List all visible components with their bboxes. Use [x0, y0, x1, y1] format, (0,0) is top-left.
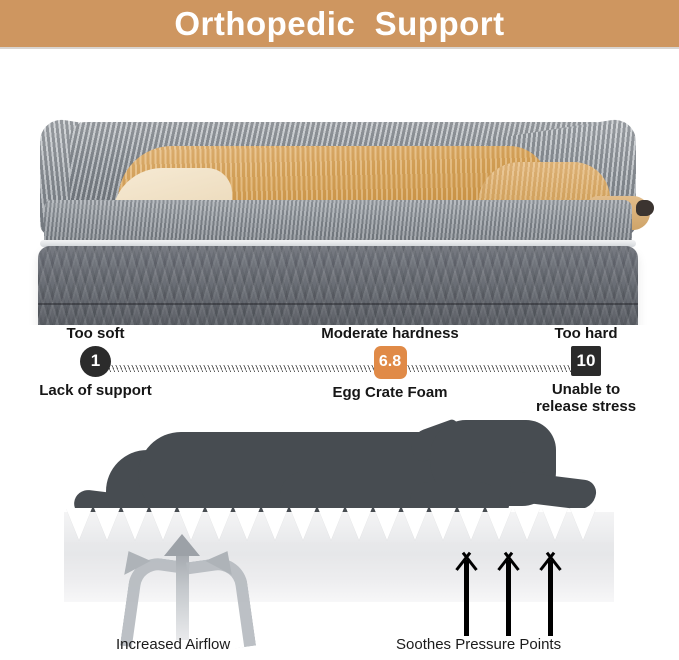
foam-tooth: [290, 508, 316, 540]
caption-increased-airflow: Increased Airflow: [116, 636, 230, 653]
foam-tooth: [514, 508, 540, 540]
foam-tooth: [458, 508, 484, 540]
hardness-scale: Too soft 1 Lack of support Moderate hard…: [0, 326, 679, 418]
scale-marker-10: 10: [571, 346, 601, 376]
foam-tooth: [374, 508, 400, 540]
airflow-arrows-icon: [112, 536, 262, 641]
foam-tooth: [430, 508, 456, 540]
scale-stop-too-hard: Too hard 10 Unable to release stress: [500, 326, 672, 415]
foam-tooth: [66, 508, 92, 540]
foam-tooth: [542, 508, 568, 540]
scale-bottom-label-moderate: Egg Crate Foam: [291, 384, 489, 401]
header-banner: Orthopedic Support: [0, 0, 679, 47]
caption-soothes-pressure-points: Soothes Pressure Points: [396, 636, 561, 653]
pressure-arrow: [450, 546, 484, 636]
scale-bottom-label-hard-line1: Unable to: [500, 381, 672, 398]
scale-stop-too-soft: Too soft 1 Lack of support: [8, 326, 183, 399]
scale-marker-1: 1: [80, 346, 111, 377]
foam-tooth: [570, 508, 596, 540]
scale-top-label-soft: Too soft: [8, 326, 183, 343]
scale-bottom-label-hard: Unable to release stress: [500, 381, 672, 416]
scale-stop-moderate: Moderate hardness 6.8 Egg Crate Foam: [291, 326, 489, 401]
scale-top-label-moderate: Moderate hardness: [291, 326, 489, 343]
foam-tooth: [318, 508, 344, 540]
pressure-arrow: [492, 546, 526, 636]
bed-quilting-texture: [38, 246, 638, 325]
product-hero-photo: [0, 50, 679, 325]
foam-tooth: [402, 508, 428, 540]
scale-top-label-hard: Too hard: [500, 326, 672, 343]
foam-tooth: [262, 508, 288, 540]
bed-base-seam: [38, 303, 638, 305]
pressure-arrow: [534, 546, 568, 636]
banner-divider: [0, 47, 679, 49]
bed-base-slab: [38, 246, 638, 325]
page-title: Orthopedic Support: [174, 7, 504, 40]
scale-bottom-label-hard-line2: release stress: [500, 398, 672, 415]
scale-bottom-label-soft: Lack of support: [8, 382, 183, 399]
foam-tooth: [486, 508, 512, 540]
dog-nose: [636, 200, 654, 216]
scale-marker-6-8: 6.8: [374, 346, 407, 379]
foam-benefit-diagram: Increased Airflow Soothes Pressure Point…: [0, 418, 679, 660]
pressure-arrows-icon: [450, 546, 570, 636]
airflow-arrow-center-head: [164, 534, 200, 556]
foam-tooth: [346, 508, 372, 540]
